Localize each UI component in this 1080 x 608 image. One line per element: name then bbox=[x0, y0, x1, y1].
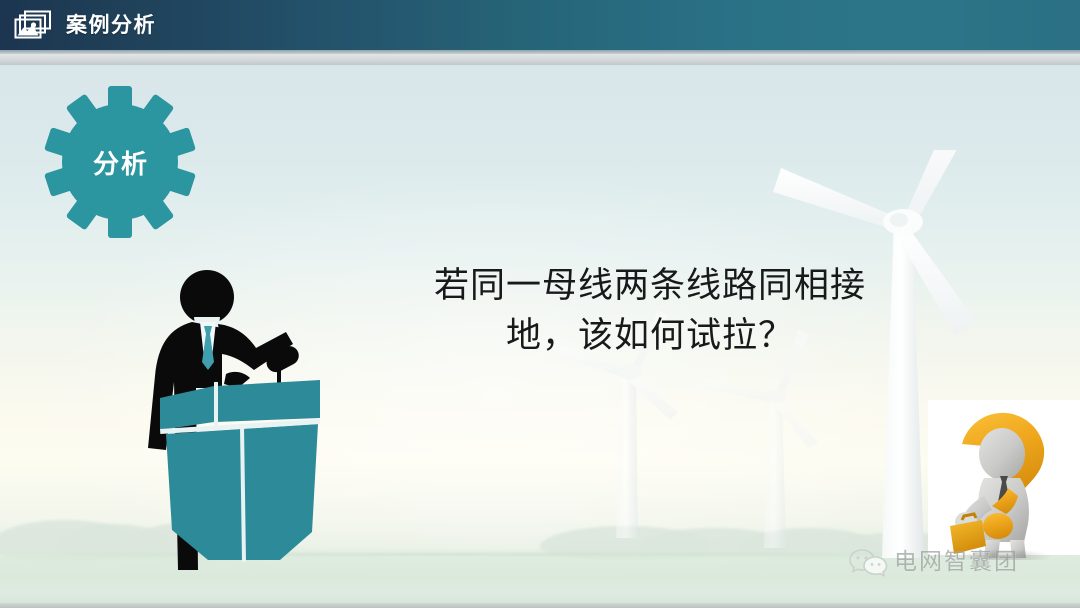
slide-canvas: 案例分析 分析 bbox=[0, 0, 1080, 608]
wechat-icon bbox=[848, 547, 888, 577]
question-mark-figure bbox=[928, 392, 1080, 560]
speaker-at-podium bbox=[130, 270, 360, 570]
header-underline bbox=[0, 50, 1080, 54]
gear-icon bbox=[44, 86, 196, 238]
header-bar: 案例分析 bbox=[0, 0, 1080, 50]
question-text: 若同一母线两条线路同相接 地，该如何试拉？ bbox=[380, 262, 920, 361]
figure-head bbox=[979, 428, 1025, 480]
analysis-gear-badge[interactable]: 分析 bbox=[44, 86, 196, 238]
question-mark-dot bbox=[983, 513, 1013, 539]
podium-top bbox=[216, 380, 320, 422]
watermark-text: 电网智囊团 bbox=[894, 551, 1019, 574]
question-line-1: 若同一母线两条线路同相接 bbox=[380, 262, 920, 312]
speaker-head bbox=[180, 270, 234, 324]
photos-stack-icon bbox=[14, 10, 52, 40]
page-title: 案例分析 bbox=[66, 15, 156, 36]
question-line-2: 地，该如何试拉？ bbox=[380, 312, 920, 362]
bottom-edge bbox=[0, 603, 1080, 608]
header-light-strip bbox=[0, 54, 1080, 65]
wechat-watermark: 电网智囊团 bbox=[848, 544, 1019, 580]
